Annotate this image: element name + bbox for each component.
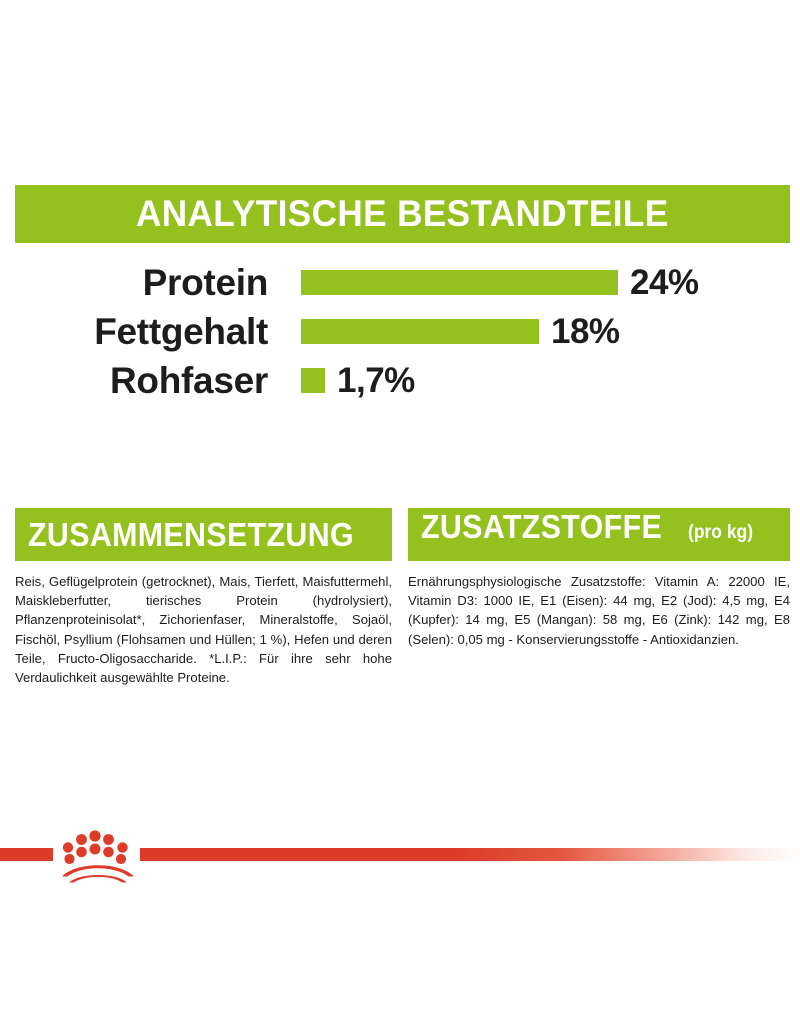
- nutrient-bar-wrap-rohfaser: 1,7%: [301, 363, 415, 398]
- analytical-components-banner: ANALYTISCHE BESTANDTEILE: [15, 185, 790, 243]
- composition-banner: ZUSAMMENSETZUNG: [15, 508, 392, 561]
- additives-banner: ZUSATZSTOFFE (pro kg): [408, 508, 790, 561]
- additives-text: Ernährungsphysiologische Zusatzstoffe: V…: [408, 572, 790, 649]
- brand-stripe-left: [0, 848, 53, 861]
- nutrient-bar-chart: Protein 24% Fettgehalt 18% Rohfaser 1,7%: [0, 258, 800, 405]
- nutrient-value-rohfaser: 1,7%: [337, 363, 415, 398]
- nutrient-bar-rohfaser: [301, 368, 325, 393]
- nutrient-bar-wrap-fettgehalt: 18%: [301, 314, 620, 349]
- composition-title: ZUSAMMENSETZUNG: [28, 516, 354, 554]
- nutrient-label-rohfaser: Rohfaser: [0, 362, 268, 399]
- nutrient-label-fettgehalt: Fettgehalt: [0, 313, 268, 350]
- analytical-components-title: ANALYTISCHE BESTANDTEILE: [136, 193, 669, 235]
- nutrient-value-fettgehalt: 18%: [551, 314, 620, 349]
- royal-canin-crown-icon: [52, 826, 144, 884]
- additives-title: ZUSATZSTOFFE: [421, 508, 662, 546]
- additives-subtitle: (pro kg): [688, 522, 753, 544]
- brand-stripe-right: [140, 848, 800, 861]
- nutrient-bar-wrap-protein: 24%: [301, 265, 699, 300]
- nutrient-bar-protein: [301, 270, 618, 295]
- nutrient-label-protein: Protein: [0, 264, 268, 301]
- nutrient-row-fettgehalt: Fettgehalt 18%: [0, 307, 800, 356]
- composition-text: Reis, Geflügelprotein (getrocknet), Mais…: [15, 572, 392, 687]
- nutrient-row-protein: Protein 24%: [0, 258, 800, 307]
- brand-footer: [0, 826, 800, 896]
- nutrient-bar-fettgehalt: [301, 319, 539, 344]
- nutrient-row-rohfaser: Rohfaser 1,7%: [0, 356, 800, 405]
- nutrient-value-protein: 24%: [630, 265, 699, 300]
